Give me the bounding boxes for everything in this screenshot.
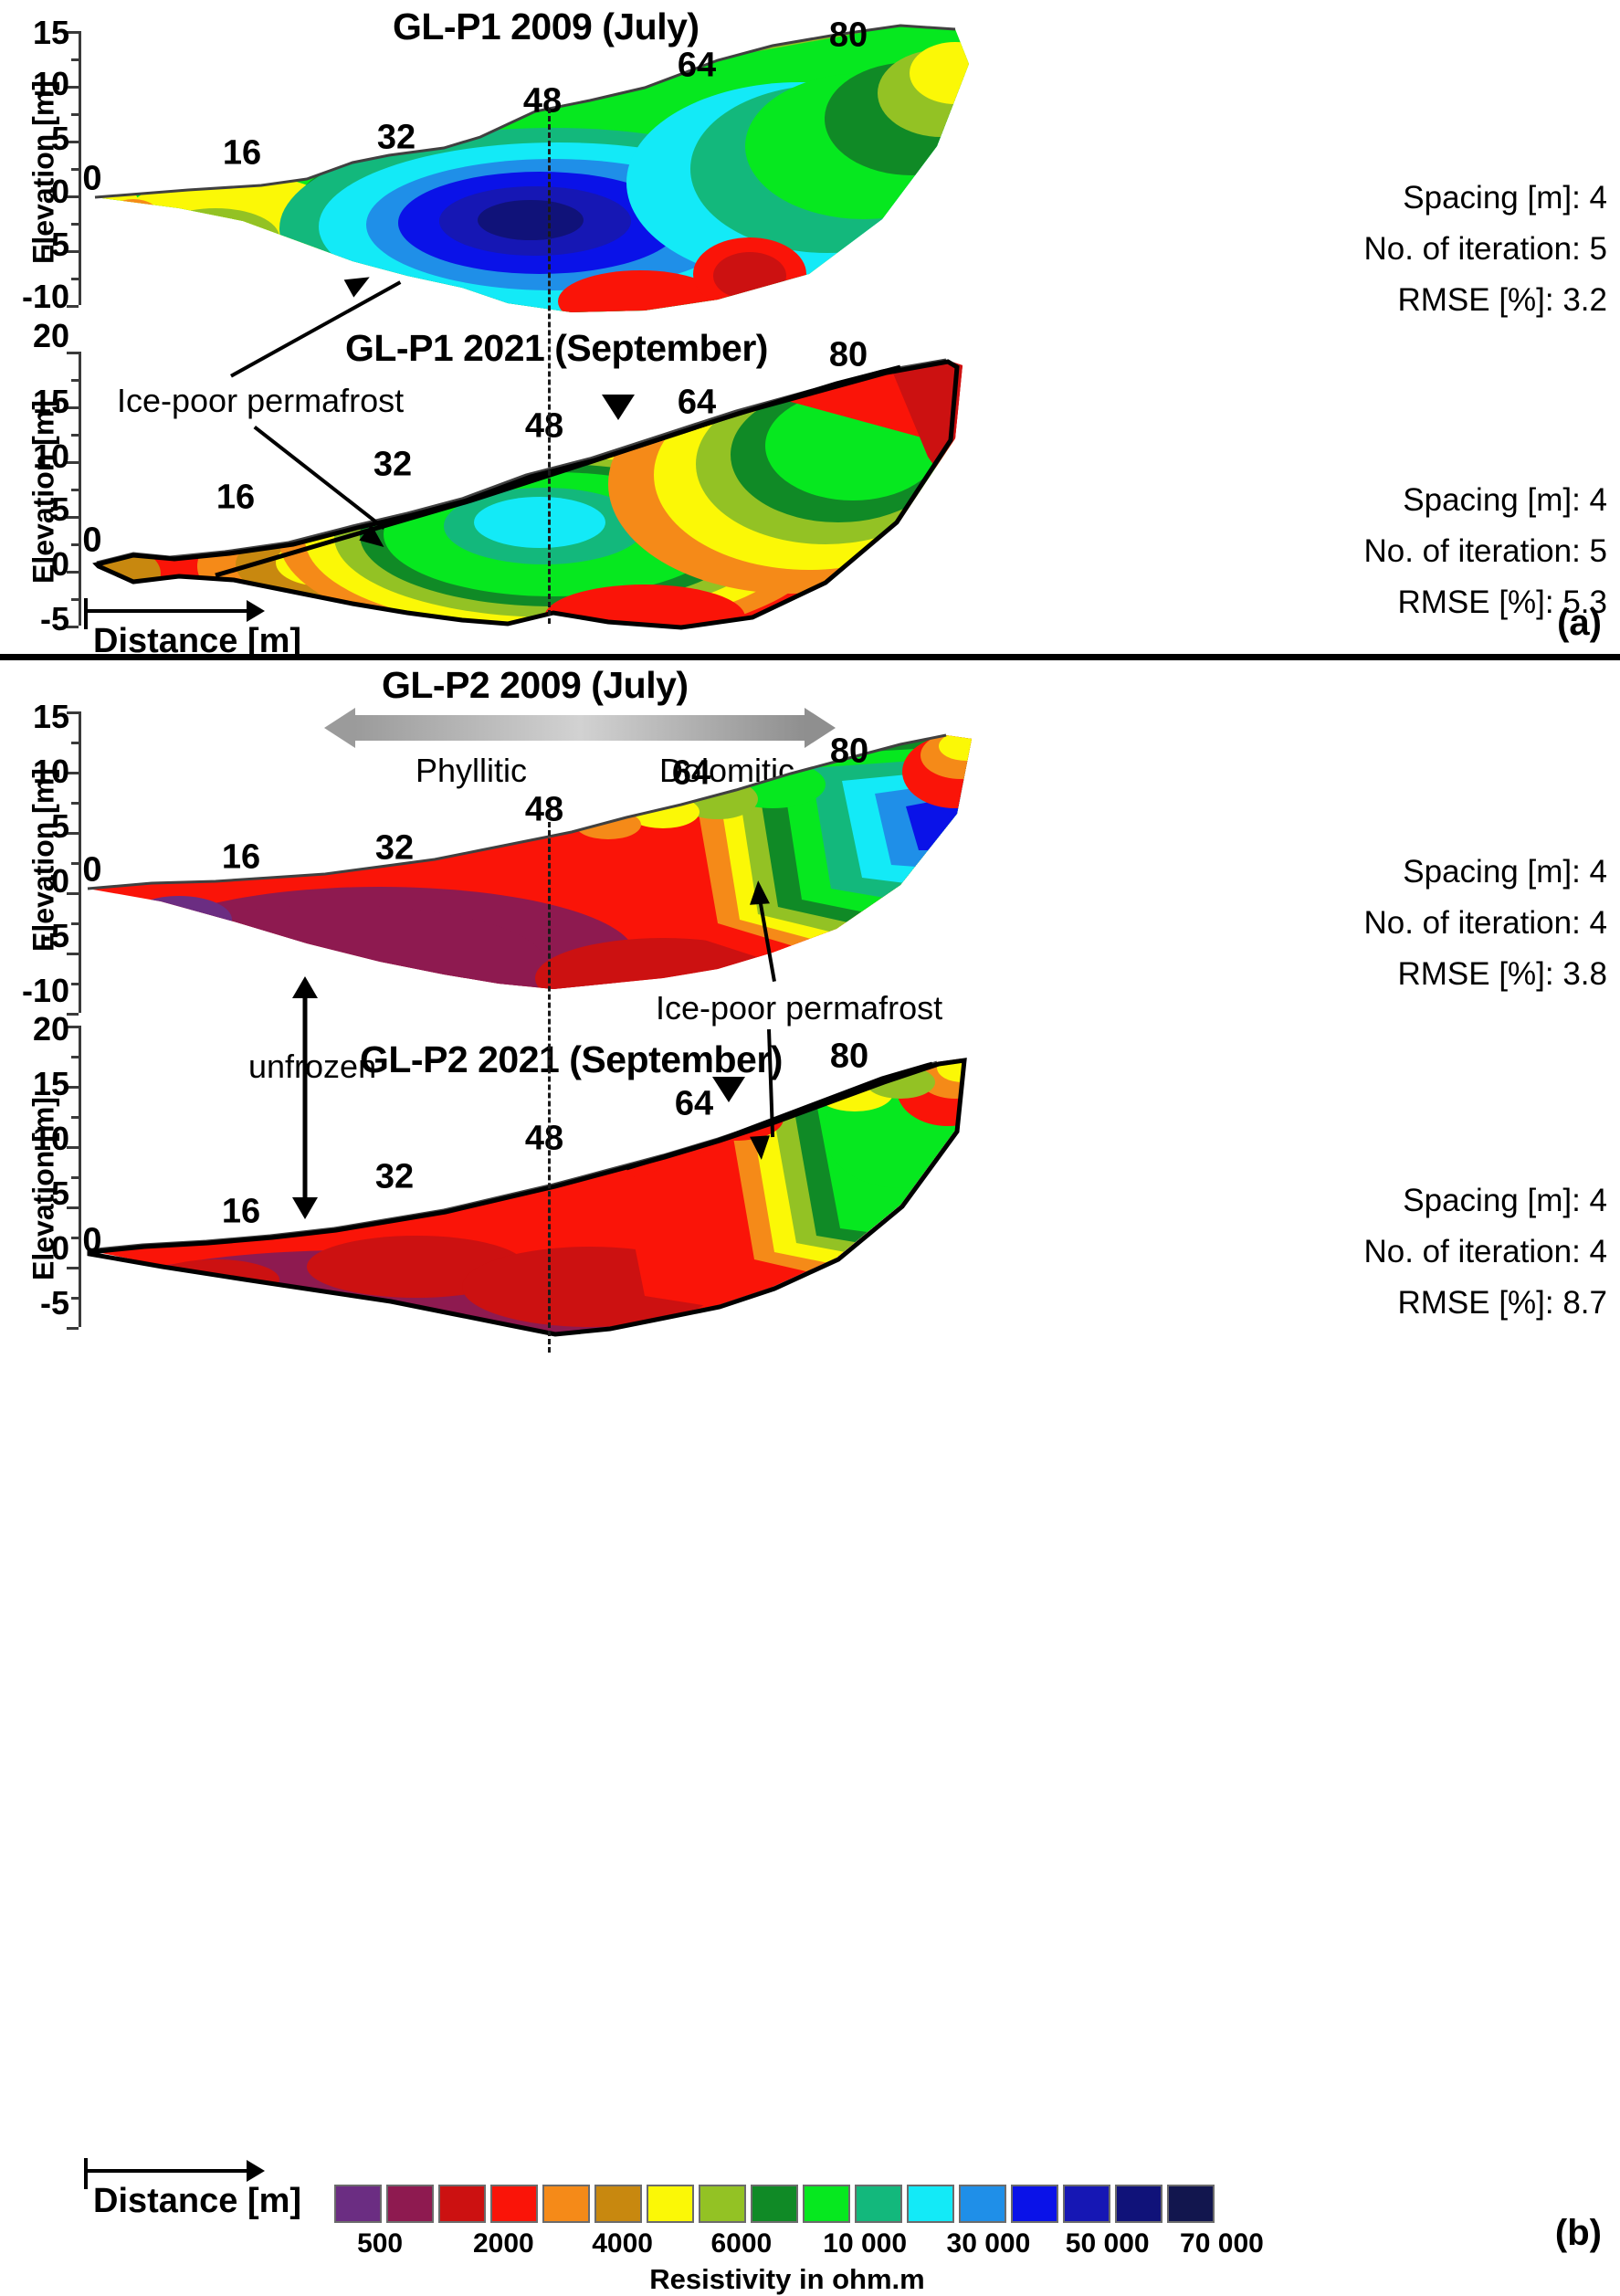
panel-b-bottom-ytick-10: 10 xyxy=(9,1120,69,1158)
colorbar-swatch-12 xyxy=(959,2185,1006,2223)
panel-b-top-dist-48: 48 xyxy=(525,791,563,830)
panel-b-top-iterations: No. of iteration: 4 xyxy=(1363,905,1607,942)
axis-tick xyxy=(71,58,79,61)
panel-a-bottom-iterations: No. of iteration: 5 xyxy=(1363,533,1607,570)
panel-a-distance-axis: Distance [m] xyxy=(84,598,358,653)
panel-a-top-dist-80: 80 xyxy=(829,16,868,56)
colorbar-swatch-10 xyxy=(855,2185,902,2223)
axis-tick xyxy=(71,223,79,226)
panel-b-top-ytick-0: 0 xyxy=(18,862,69,900)
colorbar-swatch-9 xyxy=(803,2185,850,2223)
colorbar-tick-label-6: 50 000 xyxy=(1066,2228,1150,2259)
axis-tick xyxy=(71,168,79,171)
colorbar-swatch-0 xyxy=(334,2185,382,2223)
panel-a-bottom-dist-16: 16 xyxy=(216,479,255,518)
panel-b-bottom-dist-16: 16 xyxy=(222,1193,260,1232)
panel-b-distance-axis-origin-bar xyxy=(84,2158,88,2189)
panel-a-bottom-spacing: Spacing [m]: 4 xyxy=(1403,482,1607,519)
panel-a-top-ytick-0: 0 xyxy=(18,173,69,211)
panel-a-bottom-dist-0: 0 xyxy=(82,521,101,561)
panel-b-top-ytick-5: 5 xyxy=(18,807,69,846)
panel-a-top-tomogram xyxy=(79,9,992,320)
panel-a-top-rmse: RMSE [%]: 3.2 xyxy=(1397,282,1607,319)
panel-b-bottom-ytick-m5: -5 xyxy=(0,1284,69,1322)
resistivity-colorbar xyxy=(334,2185,1219,2223)
panel-b-bottom-ytick-15: 15 xyxy=(9,1065,69,1103)
colorbar-swatch-8 xyxy=(751,2185,798,2223)
unfrozen-double-arrow xyxy=(285,976,325,1219)
panel-a-top-dist-64: 64 xyxy=(678,47,716,86)
panel-a-top-dist-16: 16 xyxy=(223,134,261,174)
colorbar-swatch-14 xyxy=(1063,2185,1110,2223)
colorbar-tick-label-3: 6000 xyxy=(711,2228,773,2259)
resistivity-colorbar-caption: Resistivity in ohm.m xyxy=(649,2263,924,2296)
panel-divider xyxy=(0,654,1620,660)
panel-b-top-ytick-10: 10 xyxy=(18,753,69,791)
panel-b-bottom-spacing: Spacing [m]: 4 xyxy=(1403,1183,1607,1219)
colorbar-swatch-1 xyxy=(386,2185,434,2223)
axis-tick xyxy=(71,1297,79,1300)
panel-b-distance-axis: Distance [m] xyxy=(84,2158,358,2213)
panel-a-bottom-dist-80: 80 xyxy=(829,336,868,375)
axis-tick xyxy=(71,1056,79,1058)
axis-tick xyxy=(71,434,79,437)
panel-a-bottom-ytick-5: 5 xyxy=(9,490,69,529)
colorbar-tick-label-2: 4000 xyxy=(592,2228,653,2259)
axis-tick xyxy=(71,1237,79,1239)
axis-tick xyxy=(71,113,79,116)
figure-root: GL-P1 2009 (July) Elevation [m] 15 10 5 … xyxy=(0,0,1620,2289)
panel-a-bottom-ytick-15: 15 xyxy=(9,383,69,421)
panel-b-bottom-marker-triangle xyxy=(712,1077,745,1102)
panel-b-distance-axis-bar xyxy=(84,2169,248,2173)
panel-b-bottom-ytick-20: 20 xyxy=(9,1010,69,1048)
unfrozen-arrow-down-head xyxy=(292,1197,318,1219)
panel-b-top-leader-arrowhead xyxy=(748,879,770,904)
panel-b-bottom-ytick-5: 5 xyxy=(9,1174,69,1213)
axis-tick xyxy=(71,802,79,805)
colorbar-tick-label-1: 2000 xyxy=(473,2228,534,2259)
panel-a-top-spacing: Spacing [m]: 4 xyxy=(1403,180,1607,216)
colorbar-swatch-11 xyxy=(907,2185,954,2223)
colorbar-swatch-4 xyxy=(542,2185,590,2223)
panel-a-bottom-dist-32: 32 xyxy=(373,446,412,485)
axis-tick xyxy=(71,543,79,546)
panel-b-top-dist-16: 16 xyxy=(222,838,260,878)
panel-b-top-dist-32: 32 xyxy=(375,829,414,869)
axis-tick xyxy=(71,379,79,382)
colorbar-swatch-5 xyxy=(594,2185,642,2223)
colorbar-tick-label-5: 30 000 xyxy=(947,2228,1031,2259)
panel-b-top-ytick-15: 15 xyxy=(18,698,69,736)
panel-a-top-dist-48: 48 xyxy=(523,82,562,121)
panel-a-distance-axis-bar xyxy=(84,609,248,613)
colorbar-swatch-6 xyxy=(647,2185,694,2223)
panel-a-bottom-marker-triangle xyxy=(602,395,635,420)
panel-a-distance-axis-origin-bar xyxy=(84,598,88,629)
unfrozen-arrow-up-head xyxy=(292,976,318,998)
panel-a-bottom-ytick-10: 10 xyxy=(9,437,69,476)
axis-tick xyxy=(71,862,79,865)
panel-b-letter: (b) xyxy=(1555,2213,1602,2254)
panel-a: GL-P1 2009 (July) Elevation [m] 15 10 5 … xyxy=(0,0,1620,650)
panel-b: GL-P2 2009 (July) Phyllitic Dolomitic El… xyxy=(0,660,1620,2167)
panel-a-top-ytick-10: 10 xyxy=(18,65,69,103)
axis-tick xyxy=(71,1176,79,1179)
unfrozen-arrow-stem xyxy=(303,996,308,1199)
axis-tick xyxy=(71,742,79,744)
panel-b-top-dist-0: 0 xyxy=(82,851,101,890)
panel-a-bottom-dist-48: 48 xyxy=(525,407,563,447)
axis-tick xyxy=(71,598,79,601)
panel-b-bottom-iterations: No. of iteration: 4 xyxy=(1363,1234,1607,1270)
panel-a-top-ytick-5: 5 xyxy=(18,120,69,158)
panel-a-top-iterations: No. of iteration: 5 xyxy=(1363,231,1607,268)
colorbar-tick-label-4: 10 000 xyxy=(823,2228,907,2259)
panel-b-bottom-dist-80: 80 xyxy=(830,1037,868,1077)
colorbar-swatch-16 xyxy=(1167,2185,1215,2223)
colorbar-swatch-13 xyxy=(1011,2185,1058,2223)
panel-b-top-dist-64: 64 xyxy=(672,754,710,794)
panel-a-top-dist-32: 32 xyxy=(377,119,416,158)
axis-tick xyxy=(71,278,79,280)
panel-a-top-ytick-m10: -10 xyxy=(0,278,69,316)
panel-b-bottom-dist-32: 32 xyxy=(375,1158,414,1197)
panel-b-bottom-rmse: RMSE [%]: 8.7 xyxy=(1397,1285,1607,1322)
panel-b-ice-poor-permafrost-label: Ice-poor permafrost xyxy=(656,989,942,1027)
axis-tick xyxy=(71,1116,79,1119)
colorbar-swatch-2 xyxy=(438,2185,486,2223)
colorbar-swatch-15 xyxy=(1115,2185,1162,2223)
axis-tick xyxy=(67,1327,79,1330)
axis-tick xyxy=(71,489,79,491)
colorbar-tick-label-7: 70 000 xyxy=(1180,2228,1264,2259)
panel-a-bottom-ytick-0: 0 xyxy=(9,545,69,584)
colorbar-swatch-7 xyxy=(699,2185,746,2223)
panel-b-top-ytick-m5: -5 xyxy=(7,917,69,955)
panel-b-top-spacing: Spacing [m]: 4 xyxy=(1403,854,1607,890)
panel-a-top-ytick-m5: -5 xyxy=(7,226,69,264)
panel-a-top-dist-0: 0 xyxy=(82,160,101,199)
panel-b-distance-axis-label: Distance [m] xyxy=(93,2182,301,2221)
panel-a-ice-poor-permafrost-label: Ice-poor permafrost xyxy=(117,382,404,420)
colorbar-tick-label-0: 500 xyxy=(357,2228,403,2259)
panel-b-top-title: GL-P2 2009 (July) xyxy=(382,664,689,707)
panel-a-bottom-ytick-20: 20 xyxy=(9,317,69,355)
panel-b-vertical-reference-line xyxy=(548,814,551,1353)
panel-b-top-rmse: RMSE [%]: 3.8 xyxy=(1397,956,1607,993)
panel-b-bottom-dist-48: 48 xyxy=(525,1120,563,1159)
colorbar-swatch-3 xyxy=(490,2185,538,2223)
panel-a-letter: (a) xyxy=(1557,603,1602,644)
panel-a-bottom-ytick-m5: -5 xyxy=(0,600,69,638)
panel-a-bottom-dist-64: 64 xyxy=(678,384,716,423)
panel-b-bottom-ytick-0: 0 xyxy=(9,1229,69,1268)
axis-tick xyxy=(71,922,79,925)
panel-b-top-dist-80: 80 xyxy=(830,732,868,772)
panel-b-bottom-dist-64: 64 xyxy=(675,1085,713,1124)
panel-a-vertical-reference-line xyxy=(548,108,551,624)
panel-b-bottom-leader-arrowhead xyxy=(750,1135,772,1160)
panel-a-top-ytick-15: 15 xyxy=(18,14,69,52)
unfrozen-label: unfrozen xyxy=(248,1048,376,1086)
panel-b-distance-axis-arrowhead xyxy=(247,2160,265,2182)
panel-b-bottom-dist-0: 0 xyxy=(82,1222,101,1261)
panel-b-top-ytick-m10: -10 xyxy=(0,972,69,1010)
panel-a-distance-axis-arrowhead xyxy=(247,600,265,622)
axis-tick xyxy=(71,983,79,985)
